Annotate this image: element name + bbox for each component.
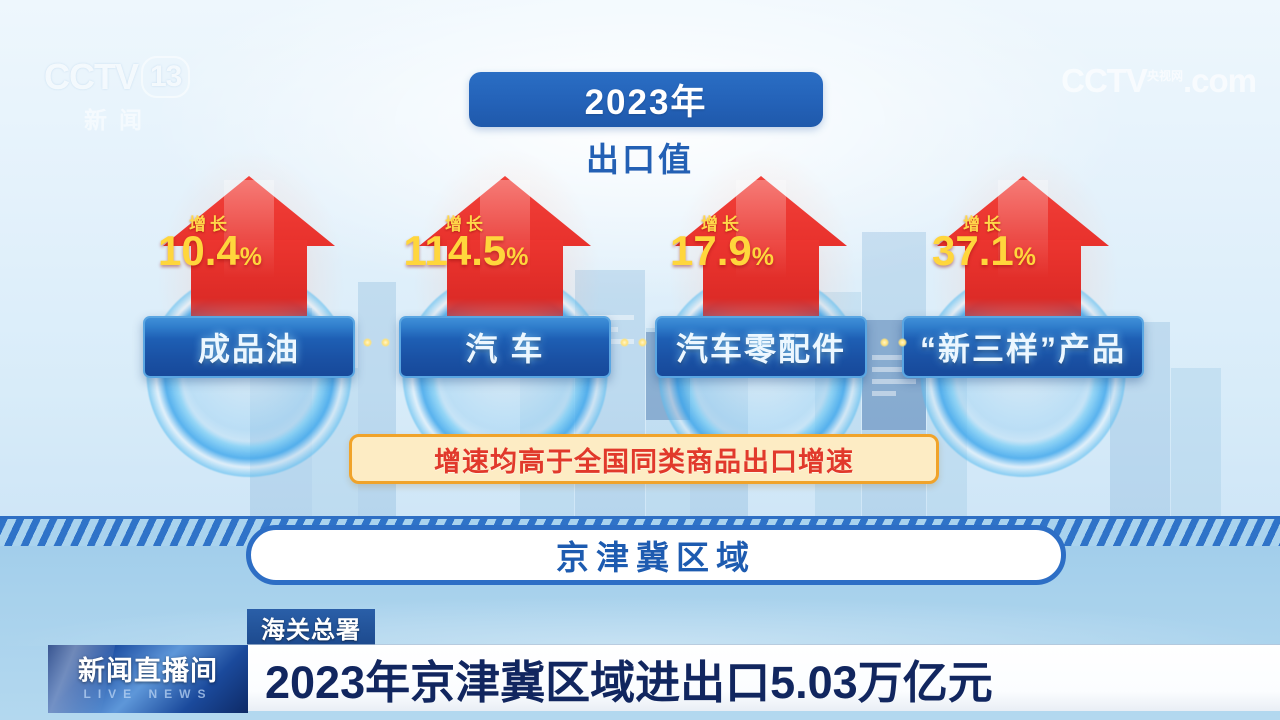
export-value-subtitle: 出口值 [0, 133, 1280, 181]
spark-dot-icon [620, 338, 629, 347]
growth-percent: 10.4% [124, 230, 296, 272]
source-tag: 海关总署 [247, 609, 375, 645]
program-name: 新闻直播间 [48, 649, 248, 688]
headline-text: 2023年京津冀区域进出口5.03万亿元 [265, 646, 993, 711]
growth-note-banner: 增速均高于全国同类商品出口增速 [349, 434, 939, 484]
stat-column-new-three: 增长 37.1% “新三样”产品 [898, 176, 1148, 396]
year-title-text: 2023年 [585, 74, 708, 125]
program-badge: 新闻直播间 LIVE NEWS [48, 645, 248, 713]
category-label: 汽车零配件 [676, 324, 846, 370]
stat-column-automobile: 增长 114.5% 汽 车 [380, 176, 630, 396]
stat-column-refined-oil: 增长 10.4% 成品油 [124, 176, 374, 396]
category-label: 汽 车 [466, 324, 545, 370]
category-plate-new-three[interactable]: “新三样”产品 [902, 316, 1144, 378]
percent-unit: % [1014, 243, 1036, 271]
growth-value: 17.9 [670, 227, 752, 274]
region-pill: 京津冀区域 [246, 525, 1066, 585]
growth-percent: 37.1% [898, 230, 1070, 272]
category-plate-refined-oil[interactable]: 成品油 [143, 316, 355, 378]
percent-unit: % [752, 243, 774, 271]
growth-value: 10.4 [158, 227, 240, 274]
broadcast-screen: CCTV 13 新闻 CCTV央视网.com 2023年 出口值 增长 10.4… [0, 0, 1280, 720]
spark-dot-icon [898, 338, 907, 347]
headline-bar: 2023年京津冀区域进出口5.03万亿元 [247, 645, 1280, 711]
spark-dot-icon [880, 338, 889, 347]
category-plate-automobile[interactable]: 汽 车 [399, 316, 611, 378]
source-tag-text: 海关总署 [261, 610, 361, 645]
category-label: 成品油 [198, 324, 300, 370]
stat-column-auto-parts: 增长 17.9% 汽车零配件 [636, 176, 886, 396]
program-subtitle: LIVE NEWS [48, 687, 248, 701]
spark-dot-icon [363, 338, 372, 347]
region-label: 京津冀区域 [556, 531, 756, 579]
growth-percent: 114.5% [380, 230, 552, 272]
percent-unit: % [506, 243, 528, 271]
category-label: “新三样”产品 [920, 324, 1126, 370]
spark-dot-icon [381, 338, 390, 347]
percent-unit: % [240, 243, 262, 271]
spark-dot-icon [638, 338, 647, 347]
category-plate-auto-parts[interactable]: 汽车零配件 [655, 316, 867, 378]
growth-value: 37.1 [932, 227, 1014, 274]
year-title-pill: 2023年 [469, 72, 823, 127]
growth-note-text: 增速均高于全国同类商品出口增速 [434, 440, 854, 479]
growth-percent: 17.9% [636, 230, 808, 272]
growth-value: 114.5 [403, 227, 506, 274]
